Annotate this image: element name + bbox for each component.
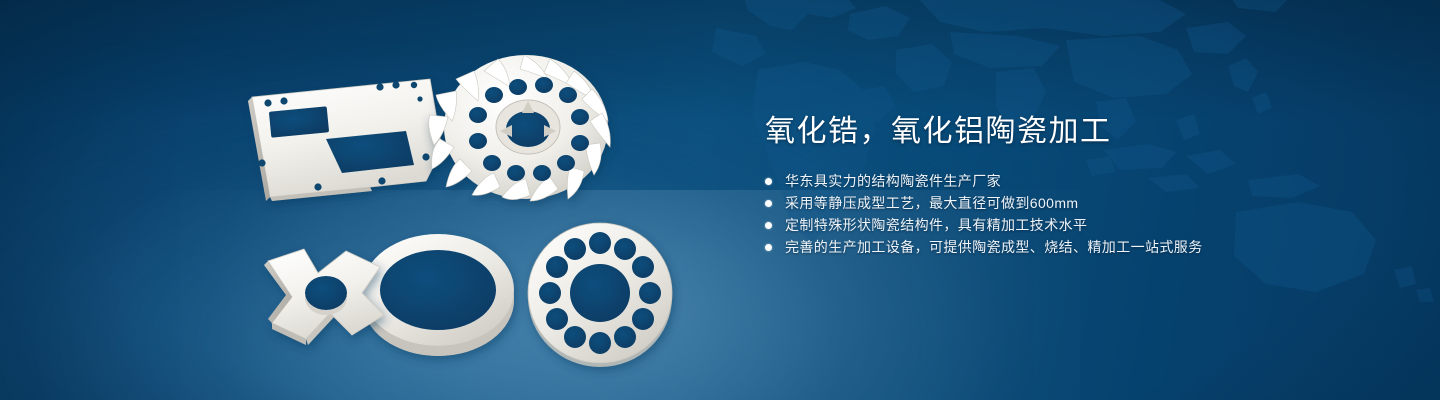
bullet-dot-icon	[765, 200, 772, 207]
feature-text: 完善的生产加工设备，可提供陶瓷成型、烧结、精加工一站式服务	[785, 236, 1203, 258]
feature-item: 华东具实力的结构陶瓷件生产厂家	[765, 170, 1385, 192]
bullet-dot-icon	[765, 178, 772, 185]
feature-text: 定制特殊形状陶瓷结构件，具有精加工技术水平	[785, 214, 1087, 236]
feature-text: 采用等静压成型工艺，最大直径可做到600mm	[785, 192, 1078, 214]
feature-item: 采用等静压成型工艺，最大直径可做到600mm	[765, 192, 1385, 214]
bullet-dot-icon	[765, 222, 772, 229]
feature-list: 华东具实力的结构陶瓷件生产厂家 采用等静压成型工艺，最大直径可做到600mm 定…	[765, 170, 1385, 258]
feature-item: 定制特殊形状陶瓷结构件，具有精加工技术水平	[765, 214, 1385, 236]
feature-text: 华东具实力的结构陶瓷件生产厂家	[785, 170, 1001, 192]
banner-headline: 氧化锆，氧化铝陶瓷加工	[765, 112, 1385, 152]
feature-item: 完善的生产加工设备，可提供陶瓷成型、烧结、精加工一站式服务	[765, 236, 1385, 258]
ceramic-processing-banner: 氧化锆，氧化铝陶瓷加工 华东具实力的结构陶瓷件生产厂家 采用等静压成型工艺，最大…	[0, 0, 1440, 400]
banner-copy-block: 氧化锆，氧化铝陶瓷加工 华东具实力的结构陶瓷件生产厂家 采用等静压成型工艺，最大…	[765, 112, 1385, 258]
bullet-dot-icon	[765, 244, 772, 251]
